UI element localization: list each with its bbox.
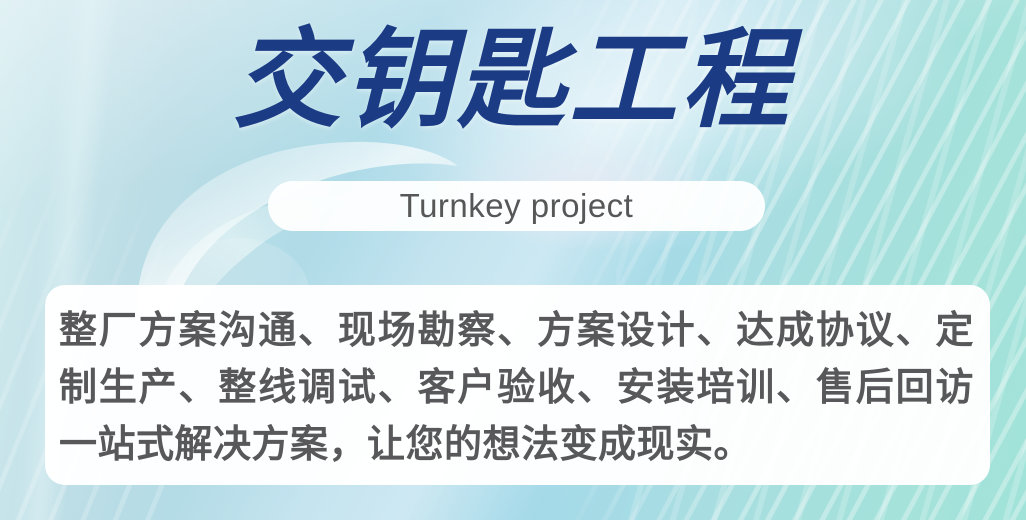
turnkey-project-banner: 交钥匙工程 Turnkey project 整厂方案沟通、现场勘察、方案设计、达… bbox=[0, 0, 1026, 520]
description-card: 整厂方案沟通、现场勘察、方案设计、达成协议、定制生产、整线调试、客户验收、安装培… bbox=[45, 285, 990, 485]
description-text: 整厂方案沟通、现场勘察、方案设计、达成协议、定制生产、整线调试、客户验收、安装培… bbox=[59, 303, 974, 474]
subtitle-text: Turnkey project bbox=[400, 187, 634, 225]
subtitle-pill: Turnkey project bbox=[268, 181, 765, 231]
page-title: 交钥匙工程 bbox=[0, 16, 1026, 143]
